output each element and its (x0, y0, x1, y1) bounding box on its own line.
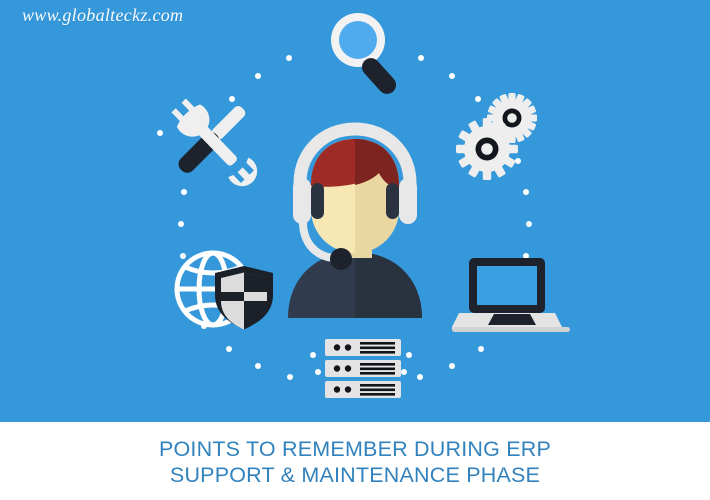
support-agent (288, 129, 422, 318)
gears-icon (456, 93, 537, 180)
tools-icon (166, 94, 264, 194)
caption-line-1: POINTS TO REMEMBER DURING ERP (159, 436, 551, 462)
laptop-icon (452, 258, 570, 332)
globe-shield-icon (177, 253, 273, 330)
caption-bar: POINTS TO REMEMBER DURING ERP SUPPORT & … (0, 422, 710, 500)
illustration-artboard (0, 0, 710, 422)
caption-line-2: SUPPORT & MAINTENANCE PHASE (170, 462, 540, 488)
poster-image: www.globalteckz.com (0, 0, 710, 500)
server-icon (325, 339, 401, 398)
magnifier-icon (331, 13, 400, 98)
hero-banner: www.globalteckz.com (0, 0, 710, 422)
